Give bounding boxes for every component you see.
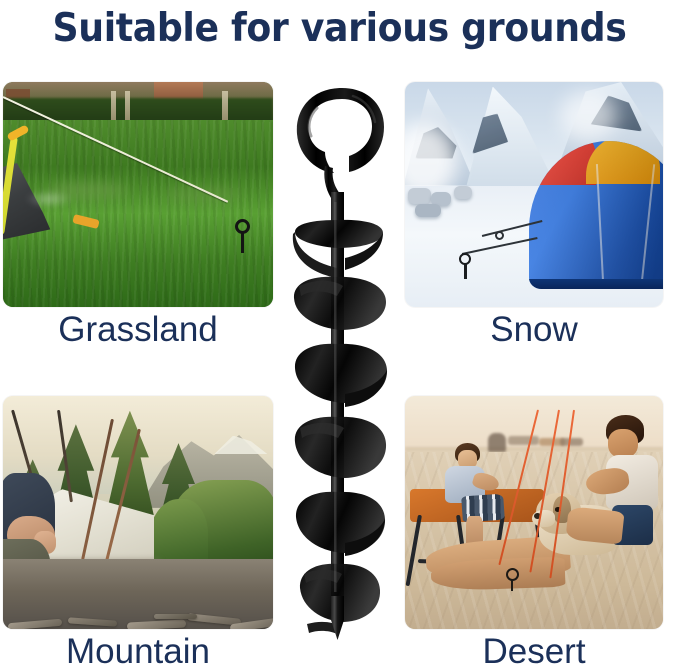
stake-tip xyxy=(331,596,344,640)
product-infographic: Suitable for various grounds xyxy=(0,0,679,668)
photo-grassland xyxy=(3,82,273,307)
snow-boulder xyxy=(408,188,431,204)
caption-snow: Snow xyxy=(405,310,663,350)
mountain-shrub xyxy=(149,499,208,569)
cell-mountain: Mountain xyxy=(3,396,273,668)
caption-mountain: Mountain xyxy=(3,632,273,668)
cell-desert: Desert xyxy=(405,396,663,668)
rock xyxy=(8,618,62,629)
mountain-rock-ground xyxy=(3,559,273,629)
desert-scene xyxy=(405,396,663,629)
spiral-stake-icon xyxy=(287,72,397,642)
shaft-highlight xyxy=(334,202,337,592)
child-leg xyxy=(566,506,625,544)
grassland-tent-highlight xyxy=(25,190,74,208)
tent-shading xyxy=(529,141,663,290)
tent-hem xyxy=(529,279,663,289)
photo-desert xyxy=(405,396,663,629)
grassland-field xyxy=(3,120,273,307)
stake-shaft xyxy=(464,263,467,279)
snow-boulder xyxy=(415,204,441,218)
snow-dome-tent-icon xyxy=(529,141,663,290)
stake-shaft xyxy=(511,579,514,591)
child-face xyxy=(608,429,638,458)
rock xyxy=(68,617,117,627)
caption-desert: Desert xyxy=(405,632,663,668)
snow-scene xyxy=(405,82,663,307)
desert-stake-icon xyxy=(506,568,522,590)
rock xyxy=(127,619,187,629)
grassland-scene xyxy=(3,82,273,307)
caption-grassland: Grassland xyxy=(3,310,273,350)
photo-mountain xyxy=(3,396,273,629)
desert-child-petting-icon xyxy=(580,415,663,597)
grassland-stake-icon xyxy=(235,219,251,253)
cell-snow: Snow xyxy=(405,82,663,360)
mountain-scene xyxy=(3,396,273,629)
snow-stake-loop-icon xyxy=(495,231,504,240)
stake-helix-flighting xyxy=(293,220,387,634)
rock xyxy=(154,614,197,620)
stake-eye-loop xyxy=(297,88,384,173)
snow-cloud-icon xyxy=(560,91,617,141)
photo-snow xyxy=(405,82,663,307)
cell-grassland: Grassland xyxy=(3,82,273,360)
page-title: Suitable for various grounds xyxy=(24,0,655,56)
snow-boulder xyxy=(454,186,472,200)
product-image-spiral-ground-anchor xyxy=(287,72,397,642)
snow-stake-icon xyxy=(459,253,473,279)
stake-shaft xyxy=(241,231,244,253)
